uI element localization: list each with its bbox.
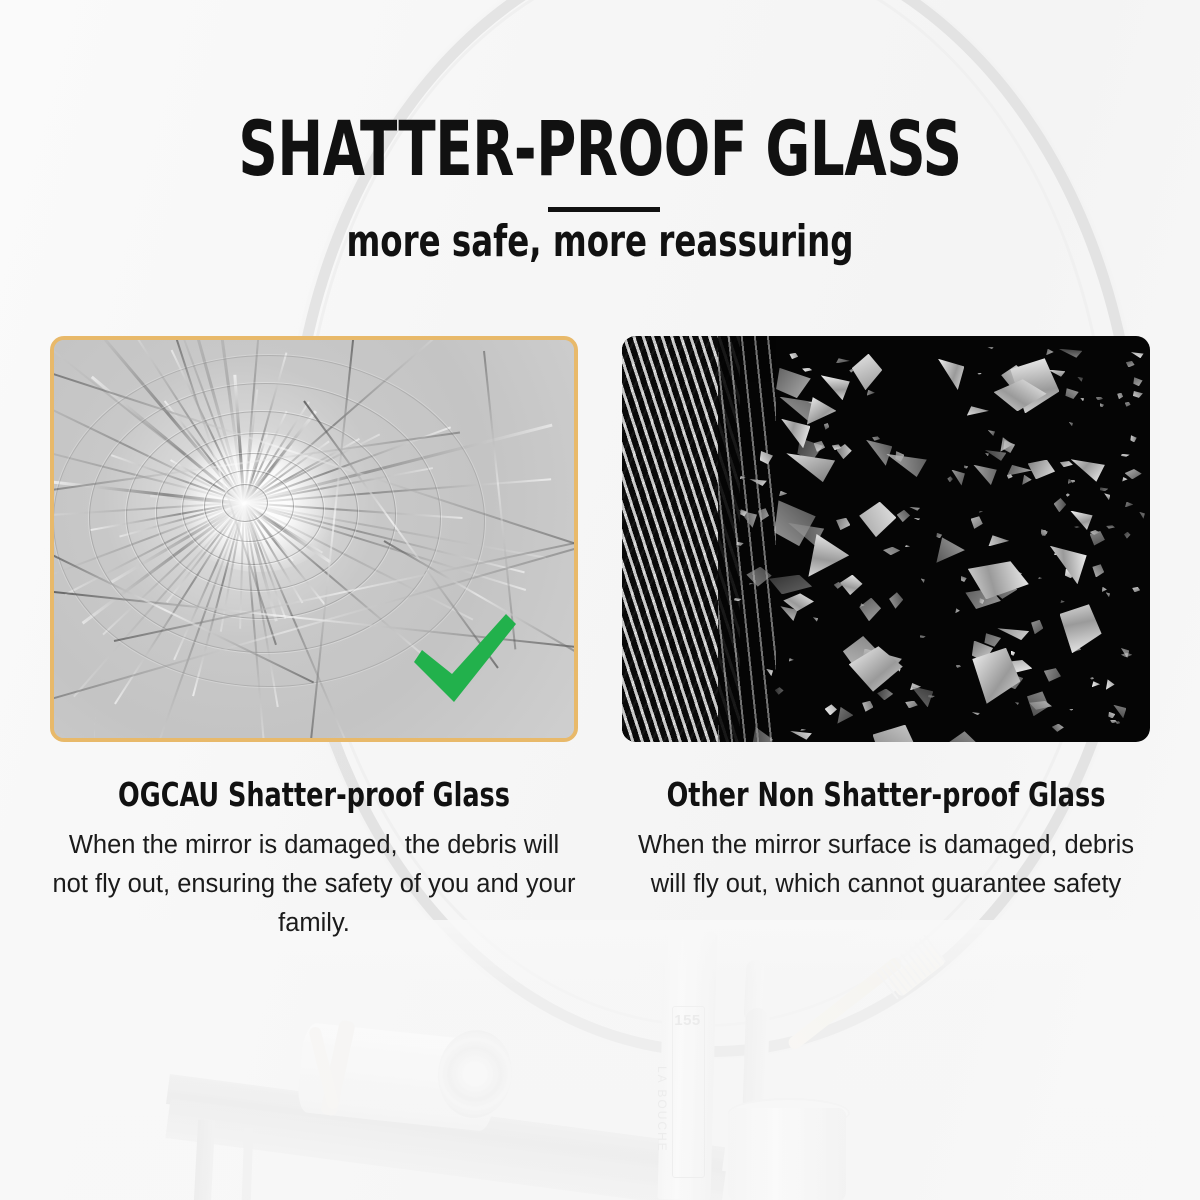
left-caption-body: When the mirror is damaged, the debris w…: [50, 826, 578, 943]
right-caption: Other Non Shatter-proof Glass When the m…: [622, 776, 1150, 904]
non-shatter-proof-glass-image-panel: [622, 336, 1150, 742]
page-title: SHATTER-PROOF GLASS: [120, 110, 1080, 188]
check-mark-icon: [408, 610, 520, 706]
left-caption-heading: OGCAU Shatter-proof Glass: [87, 776, 541, 814]
right-caption-heading: Other Non Shatter-proof Glass: [659, 776, 1113, 814]
scene-fade-overlay: [0, 920, 1200, 1200]
right-caption-body: When the mirror surface is damaged, debr…: [636, 826, 1136, 904]
shattering-mass-edge-secondary: [718, 336, 776, 742]
page-subtitle: more safe, more reassuring: [108, 218, 1092, 266]
title-divider: [548, 207, 660, 212]
left-caption: OGCAU Shatter-proof Glass When the mirro…: [50, 776, 578, 943]
